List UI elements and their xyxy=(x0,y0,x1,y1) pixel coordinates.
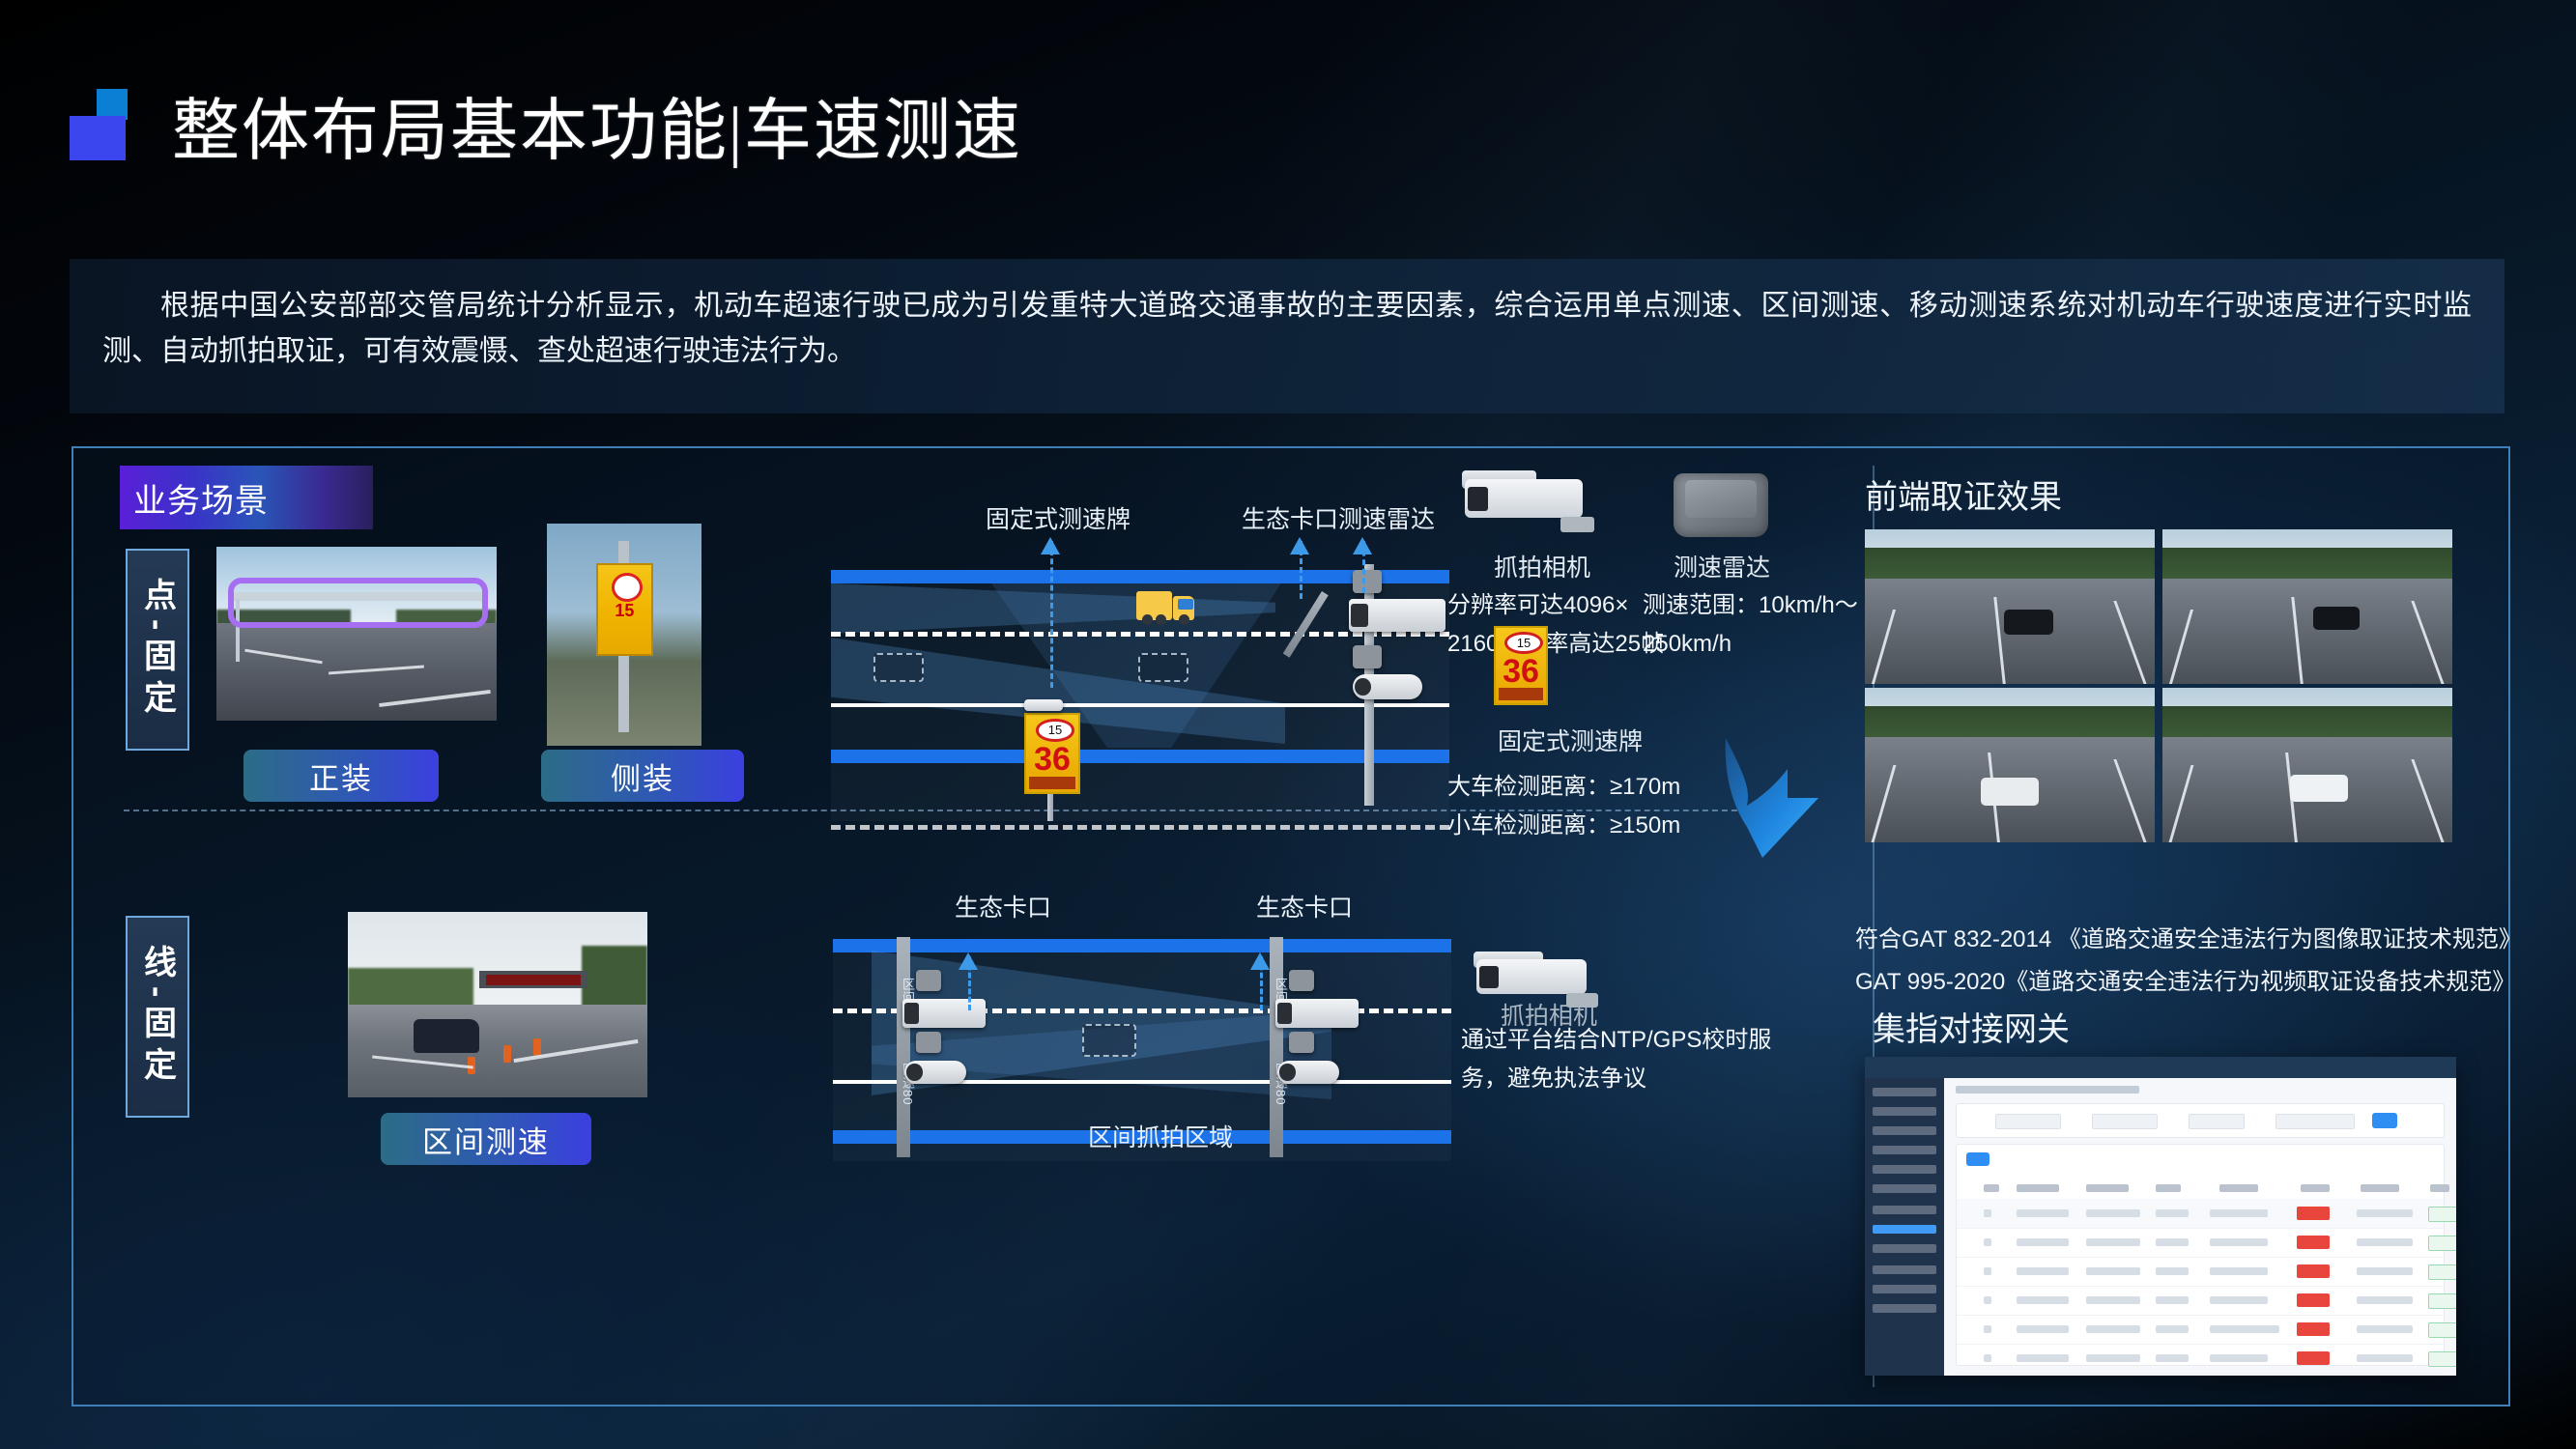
speed-sign-board: 15 36 xyxy=(1024,713,1080,794)
spec-title-camera: 抓拍相机 xyxy=(1465,549,1619,583)
slide-root: 整体布局基本功能|车速测速 根据中国公安部部交管局统计分析显示，机动车超速行驶已… xyxy=(0,0,2576,1449)
capture-camera-icon xyxy=(1349,599,1445,632)
radar-camera-icon xyxy=(1353,674,1422,699)
table-row[interactable] xyxy=(1957,1315,2444,1345)
logo-squares-icon xyxy=(70,89,158,160)
summary-text: 根据中国公安部部交管局统计分析显示，机动车超速行驶已成为引发重特大道路交通事故的… xyxy=(70,259,2504,374)
dashboard-filter-bar[interactable] xyxy=(1956,1103,2445,1138)
label-interval-capture-zone: 区间抓拍区域 xyxy=(1088,1119,1233,1153)
table-row[interactable] xyxy=(1957,1373,2444,1376)
spec-camera2-line1: 通过平台结合NTP/GPS校时服 xyxy=(1461,1022,1789,1058)
caption-side-mount: 侧装 xyxy=(541,750,744,802)
caption-front-mount: 正装 xyxy=(243,750,439,802)
dashboard-sidebar[interactable] xyxy=(1865,1078,1944,1376)
label-bayonet-top: 生态卡口 xyxy=(1242,500,1338,535)
spec-title-sign: 固定式测速牌 xyxy=(1449,723,1691,757)
spec-camera2-line2: 务，避免执法争议 xyxy=(1461,1061,1789,1096)
row-label-line-fixed: 线-固定 xyxy=(126,916,189,1118)
slide-title-row: 整体布局基本功能|车速测速 xyxy=(70,60,1022,166)
truck-icon xyxy=(1136,591,1194,620)
table-row[interactable] xyxy=(1957,1344,2444,1374)
evidence-image-3 xyxy=(1865,688,2155,842)
dashboard-table-header xyxy=(1957,1178,2444,1200)
device-capture-camera-icon xyxy=(1465,464,1619,533)
schematic-point-speed: 15 36 xyxy=(831,570,1449,821)
dashboard-export-button[interactable] xyxy=(1966,1152,1989,1166)
label-speed-radar-top: 测速雷达 xyxy=(1338,500,1435,535)
business-scene-label: 业务场景 xyxy=(120,474,269,522)
highlight-box xyxy=(228,578,489,628)
standard-line-1: 符合GAT 832-2014 《道路交通安全违法行为图像取证技术规范》 xyxy=(1855,920,2522,953)
gateway-dashboard-screenshot[interactable] xyxy=(1865,1057,2456,1376)
dashboard-table-card xyxy=(1956,1144,2445,1366)
label-bayonet-right: 生态卡口 xyxy=(1256,889,1353,923)
evidence-section-title: 前端取证效果 xyxy=(1865,470,2062,518)
evidence-image-2 xyxy=(2162,529,2452,684)
page-title: 整体布局基本功能|车速测速 xyxy=(172,99,1022,166)
spec-title-radar: 测速雷达 xyxy=(1654,549,1789,583)
blue-arrow-icon xyxy=(1718,734,1824,860)
table-row[interactable] xyxy=(1957,1257,2444,1287)
table-row[interactable] xyxy=(1957,1228,2444,1258)
dashboard-search-button[interactable] xyxy=(2372,1113,2397,1128)
row-label-point-fixed: 点-固定 xyxy=(126,549,189,751)
photo-side-mount: 15 xyxy=(547,524,701,746)
device-speed-radar-icon xyxy=(1674,473,1768,537)
dashboard-breadcrumb xyxy=(1956,1086,2139,1094)
device-speed-sign-icon: 15 36 xyxy=(1494,626,1548,705)
photo-interval-speed xyxy=(348,912,647,1097)
evidence-image-4 xyxy=(2162,688,2452,842)
measured-speed-value: 36 xyxy=(1026,743,1078,776)
table-row[interactable] xyxy=(1957,1286,2444,1316)
label-bayonet-left: 生态卡口 xyxy=(955,889,1051,923)
label-fixed-speed-sign: 固定式测速牌 xyxy=(986,500,1131,535)
dashboard-main xyxy=(1944,1078,2456,1376)
side-sign-speed: 15 xyxy=(598,601,650,621)
gateway-section-title: 集指对接网关 xyxy=(1873,1003,2070,1050)
evidence-image-1 xyxy=(1865,529,2155,684)
photo-front-mount xyxy=(216,547,497,721)
summary-box: 根据中国公安部部交管局统计分析显示，机动车超速行驶已成为引发重特大道路交通事故的… xyxy=(70,259,2504,413)
standard-line-2: GAT 995-2020《道路交通安全违法行为视频取证设备技术规范》 xyxy=(1855,962,2515,996)
business-scene-tag: 业务场景 xyxy=(120,466,373,529)
table-row[interactable] xyxy=(1957,1199,2444,1229)
speed-limit-value: 15 xyxy=(1036,719,1075,742)
caption-interval-speed: 区间测速 xyxy=(381,1113,591,1165)
dashboard-topbar xyxy=(1865,1057,2456,1078)
